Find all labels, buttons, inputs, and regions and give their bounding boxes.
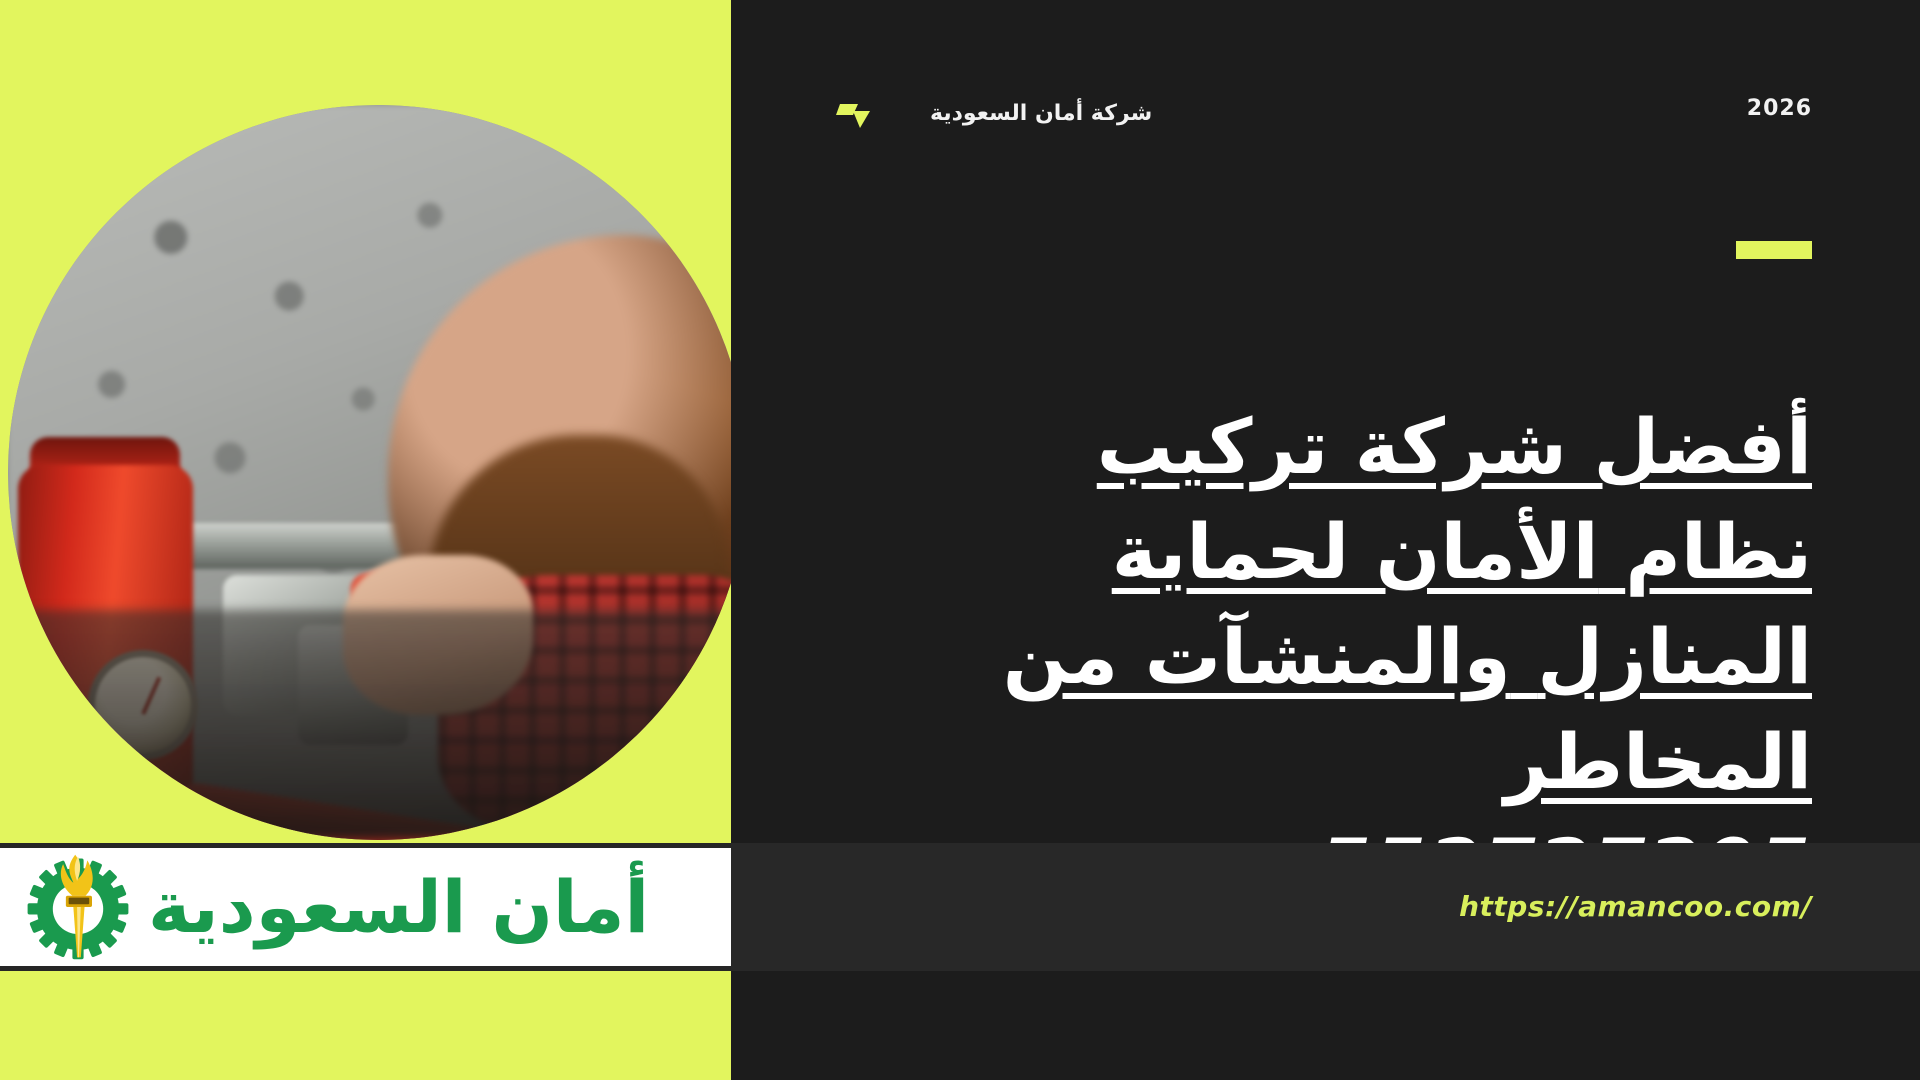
photo-floor-shadow: [8, 610, 731, 840]
brand-name: شركة أمان السعودية: [930, 101, 1152, 126]
gear-torch-icon: [22, 851, 134, 963]
poster-canvas: أمان السعودية شركة أمان السعودية 2026 أف…: [0, 0, 1920, 1080]
company-logo-text: أمان السعودية: [148, 871, 649, 943]
company-logo-band: أمان السعودية: [0, 843, 731, 971]
top-bar: شركة أمان السعودية 2026: [731, 0, 1920, 190]
website-url[interactable]: https://amancoo.com/: [1459, 890, 1812, 923]
lightning-bolt-icon: [836, 96, 870, 130]
right-content-panel: شركة أمان السعودية 2026 أفضل شركة تركيب …: [731, 0, 1920, 1080]
accent-bar: [1736, 241, 1812, 259]
year-label: 2026: [1747, 96, 1812, 121]
hero-photo-circle: [8, 105, 731, 840]
brand-block: شركة أمان السعودية: [836, 96, 1152, 130]
page-title: أفضل شركة تركيب نظام الأمان لحماية المنا…: [982, 395, 1812, 919]
left-image-panel: أمان السعودية: [0, 0, 731, 1080]
